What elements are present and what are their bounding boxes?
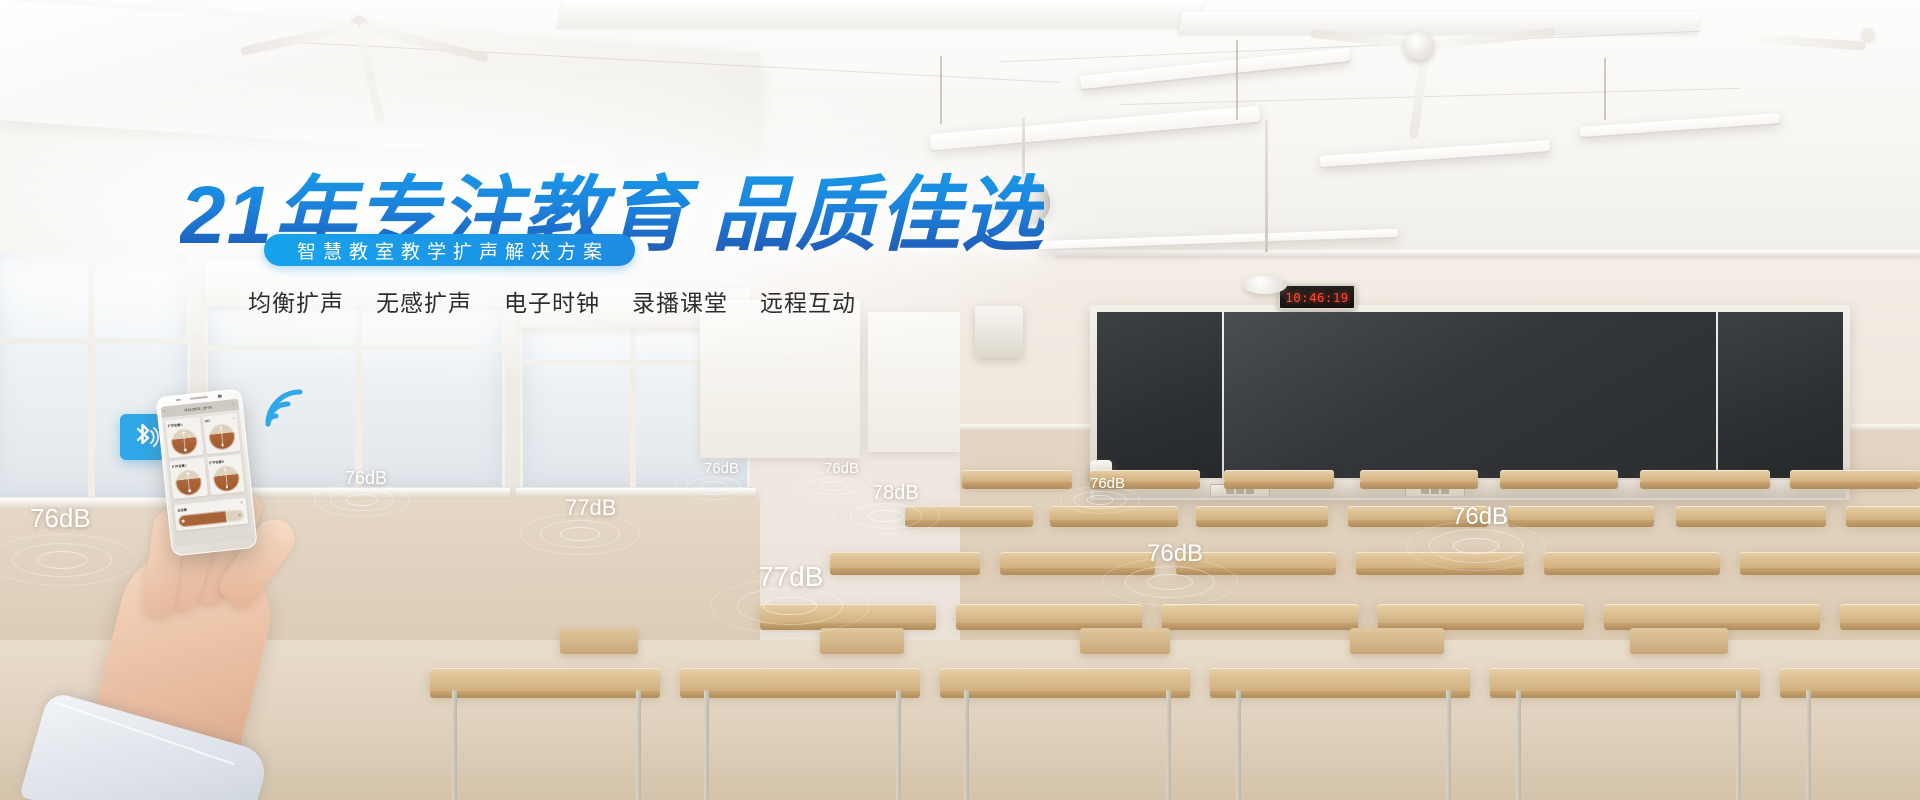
subtitle-pill-label: 智慧教室教学扩声解决方案 xyxy=(290,237,609,264)
plus-icon[interactable]: + xyxy=(240,501,243,506)
desk-leg-8 xyxy=(1446,690,1451,800)
volume-card[interactable]: 扩声音量A xyxy=(165,417,203,458)
card-mini-icon: ∿ xyxy=(232,416,235,420)
desk-leg-9 xyxy=(1516,690,1521,800)
electronic-clock-display: 10:46:19 xyxy=(1278,284,1356,310)
desk-r4-b xyxy=(956,604,1142,624)
desk-r3-a xyxy=(830,552,980,569)
volume-card[interactable]: 扩声音量D xyxy=(207,454,245,495)
db-level-label: 76dB xyxy=(704,460,739,477)
desk-leg-2 xyxy=(636,690,641,800)
volume-card[interactable]: 扩声音量C xyxy=(169,458,207,499)
desk-r1-e xyxy=(1500,470,1618,483)
desk-r1-d xyxy=(1360,470,1478,483)
ceiling-fan-hub-3 xyxy=(1862,28,1874,40)
desk-leg-1 xyxy=(452,690,457,800)
desk-r2-e xyxy=(1508,506,1654,521)
desk-r4-f xyxy=(1840,604,1920,624)
desk-r2-f xyxy=(1676,506,1826,521)
window-mullion-h1 xyxy=(0,338,190,344)
window-blind-3 xyxy=(700,300,860,458)
desk-r4-c xyxy=(1162,604,1358,624)
app-title: NX13602_2F04 xyxy=(184,405,212,412)
blackboard-wing-left xyxy=(1097,312,1222,478)
desk-r5-c xyxy=(940,668,1190,692)
desk-r5-b xyxy=(680,668,920,692)
feature-item-3: 录播课堂 xyxy=(632,284,728,318)
feature-item-0: 均衡扩声 xyxy=(248,284,344,318)
master-volume-label: 总音量 xyxy=(177,507,187,513)
pendant-rod-1 xyxy=(940,56,942,124)
desk-r5-f xyxy=(1780,668,1920,692)
db-level-label: 76dB xyxy=(1452,503,1508,531)
desk-r4-e xyxy=(1604,604,1820,624)
ceiling-speaker-2 xyxy=(1243,276,1287,294)
desk-r5-d xyxy=(1210,668,1470,692)
card-label: 扩声音量A xyxy=(167,421,183,428)
desk-r5-e xyxy=(1490,668,1760,692)
pendant-rod-2 xyxy=(1236,40,1238,120)
desk-r3-f xyxy=(1740,552,1920,569)
db-level-label: 76dB xyxy=(824,460,859,477)
speaker-rod-2 xyxy=(1265,120,1268,252)
desk-leg-6 xyxy=(1166,690,1171,800)
chair-4 xyxy=(1350,628,1444,654)
wifi-signal-icon xyxy=(262,386,308,428)
chair-1 xyxy=(560,628,638,654)
db-level-label: 76dB xyxy=(1090,475,1125,492)
desk-leg-4 xyxy=(896,690,901,800)
db-level-label: 77dB xyxy=(565,495,616,521)
feature-item-2: 电子时钟 xyxy=(504,284,600,318)
desk-r2-g xyxy=(1846,506,1920,521)
volume-card-grid: 扩声音量A MIC ∿ 扩声音量C xyxy=(162,410,248,503)
desk-r1-g xyxy=(1790,470,1920,483)
card-label: MIC xyxy=(205,418,211,423)
back-chevron-icon[interactable]: ‹ xyxy=(164,409,166,414)
wall-rail-mid xyxy=(1055,250,1920,256)
desk-r5-a xyxy=(430,668,660,692)
blackboard-center xyxy=(1224,312,1716,478)
smartphone[interactable]: ‹ NX13602_2F04 ⋮ 扩声音量A MIC xyxy=(156,388,258,556)
blackboard-wing-right xyxy=(1718,312,1843,478)
chair-3 xyxy=(1080,628,1170,654)
desk-leg-7 xyxy=(1236,690,1241,800)
volume-dial[interactable] xyxy=(212,464,241,493)
desk-r2-c xyxy=(1196,506,1328,521)
phone-body: ‹ NX13602_2F04 ⋮ 扩声音量A MIC xyxy=(156,388,258,556)
subtitle-pill: 智慧教室教学扩声解决方案 xyxy=(264,234,635,266)
wall-ac-unit xyxy=(975,306,1023,358)
desk-leg-10 xyxy=(1736,690,1741,800)
card-label: 扩声音量D xyxy=(209,458,225,465)
volume-card[interactable]: MIC ∿ xyxy=(202,413,240,454)
master-volume-card[interactable]: 总音量 + xyxy=(174,498,248,531)
window-mullion-h2 xyxy=(205,345,505,351)
clock-time: 10:46:19 xyxy=(1285,290,1348,305)
feature-item-4: 远程互动 xyxy=(760,284,856,318)
volume-dial[interactable] xyxy=(170,427,199,456)
desk-leg-11 xyxy=(1806,690,1811,800)
feature-list: 均衡扩声 无感扩声 电子时钟 录播课堂 远程互动 xyxy=(248,284,856,318)
phone-proximity-sensor xyxy=(176,399,181,402)
desk-leg-5 xyxy=(964,690,969,800)
ceiling-speaker-3 xyxy=(1404,32,1434,60)
desk-r3-e xyxy=(1544,552,1720,569)
desk-r1-c xyxy=(1224,470,1334,483)
desk-r1-a xyxy=(962,470,1072,483)
chair-5 xyxy=(1630,628,1728,654)
chair-2 xyxy=(820,628,904,654)
phone-screen[interactable]: ‹ NX13602_2F04 ⋮ 扩声音量A MIC xyxy=(161,399,253,547)
banner-root: 10:46:19 xyxy=(0,0,1920,800)
more-options-icon[interactable]: ⋮ xyxy=(230,402,235,407)
db-level-label: 77dB xyxy=(758,561,823,593)
phone-earpiece xyxy=(190,396,208,400)
slider-handle-left[interactable] xyxy=(181,520,184,523)
volume-dial[interactable] xyxy=(174,468,203,497)
volume-dial[interactable] xyxy=(207,422,236,451)
blackboard-surface xyxy=(1097,312,1843,478)
window-mullion-1 xyxy=(88,250,95,500)
slider-handle-right[interactable] xyxy=(238,514,241,517)
db-level-label: 76dB xyxy=(1147,540,1203,568)
phone-front-camera xyxy=(218,394,222,398)
ceiling-slab-1 xyxy=(556,0,1204,28)
pendant-rod-3 xyxy=(1604,58,1606,120)
window-blind-4 xyxy=(868,312,960,452)
ceiling-slab-2 xyxy=(1178,12,1703,34)
card-label: 扩声音量C xyxy=(172,462,188,469)
desk-leg-3 xyxy=(704,690,709,800)
desk-r4-d xyxy=(1378,604,1584,624)
desk-r1-f xyxy=(1640,470,1770,483)
db-level-label: 78dB xyxy=(872,482,919,505)
feature-item-1: 无感扩声 xyxy=(376,284,472,318)
